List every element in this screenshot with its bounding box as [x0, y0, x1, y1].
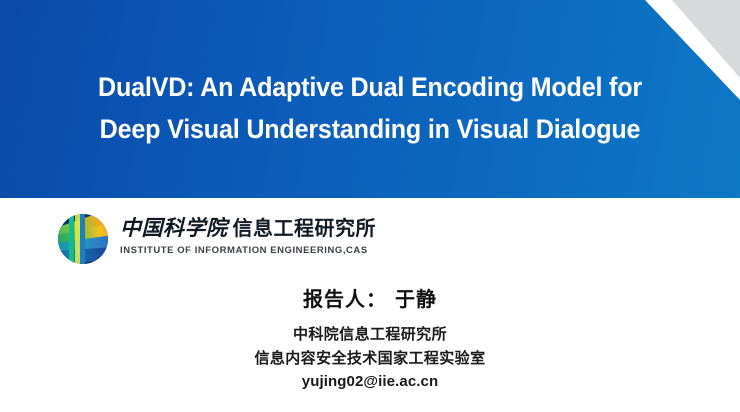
affiliation-line-1: 中科院信息工程研究所	[0, 322, 740, 346]
logo-institute-name: 信息工程研究所	[233, 212, 377, 241]
emblem-vertical-stripe-1	[69, 214, 74, 264]
presenter-name: 报告人： 于静	[0, 286, 740, 312]
page-title: DualVD: An Adaptive Dual Encoding Model …	[0, 66, 740, 150]
title-line-1: DualVD: An Adaptive Dual Encoding Model …	[26, 66, 714, 108]
logo-english-name: INSTITUTE OF INFORMATION ENGINEERING,CAS	[120, 245, 376, 256]
iie-cas-emblem-icon	[58, 214, 108, 264]
logo-wordmark: 中国科学院 信息工程研究所 INSTITUTE OF INFORMATION E…	[120, 212, 376, 256]
logo-chinese-line: 中国科学院 信息工程研究所	[120, 212, 376, 242]
affiliation-line-2: 信息内容安全技术国家工程实验室	[0, 346, 740, 370]
affiliation-block: 中科院信息工程研究所 信息内容安全技术国家工程实验室 yujing02@iie.…	[0, 322, 740, 394]
logo-academy-name: 中国科学院	[120, 212, 228, 242]
title-line-2: Deep Visual Understanding in Visual Dial…	[26, 108, 714, 150]
emblem-vertical-stripe-3	[80, 214, 85, 264]
title-banner: DualVD: An Adaptive Dual Encoding Model …	[0, 0, 740, 198]
organization-logo: 中国科学院 信息工程研究所 INSTITUTE OF INFORMATION E…	[58, 212, 376, 270]
presenter-email: yujing02@iie.ac.cn	[0, 370, 740, 394]
title-slide: DualVD: An Adaptive Dual Encoding Model …	[0, 0, 740, 412]
presenter-block: 报告人： 于静	[0, 286, 740, 312]
